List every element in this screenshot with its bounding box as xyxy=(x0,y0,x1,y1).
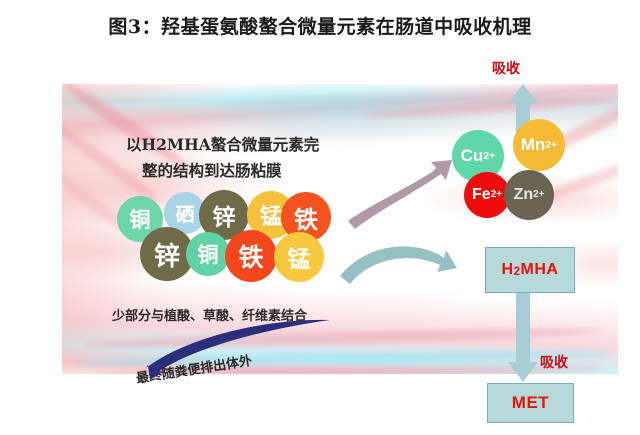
element-bubble-label: 锌 xyxy=(213,198,236,232)
element-bubble: 铜 xyxy=(186,232,230,276)
element-bubble-label: 锰 xyxy=(260,199,282,231)
ion-bubble-label: Mn xyxy=(521,135,546,155)
element-bubble: 铁 xyxy=(225,230,277,282)
element-bubble-label: 铜 xyxy=(130,204,151,234)
headline-line-2: 整的结构到达肠粘膜 xyxy=(142,158,282,183)
ion-bubble-label: Fe xyxy=(472,186,491,204)
h2mha-box-suffix: MHA xyxy=(521,261,559,279)
element-bubble-label: 硒 xyxy=(175,200,194,227)
headline-line-1: 以H2MHA螯合微量元素完 xyxy=(126,132,319,157)
element-bubble-label: 铁 xyxy=(294,200,318,235)
ion-bubble-label: Cu xyxy=(461,146,484,166)
h2mha-box: H2MHA xyxy=(485,247,575,293)
page-title: 图3：羟基蛋氨酸螯合微量元素在肠道中吸收机理 xyxy=(0,12,640,39)
element-bubble-label: 锌 xyxy=(154,236,180,273)
met-box-label: MET xyxy=(512,393,549,413)
note-binding-text: 少部分与植酸、草酸、纤维素结合 xyxy=(112,305,307,324)
element-bubble-label: 铜 xyxy=(198,239,219,269)
figure-canvas: 图3：羟基蛋氨酸螯合微量元素在肠道中吸收机理 以H2MHA螯合微量元素完 整的结… xyxy=(0,0,640,435)
ion-bubble-mn: Mn2+ xyxy=(513,119,565,171)
ion-bubble-label: Zn xyxy=(514,186,534,204)
h2mha-box-label: H xyxy=(502,261,514,279)
element-bubble-label: 铁 xyxy=(238,238,263,274)
ion-bubble-zn: Zn2+ xyxy=(504,170,554,220)
met-box: MET xyxy=(487,383,574,423)
absorption-label: 吸收 xyxy=(540,352,568,372)
element-bubble-label: 锰 xyxy=(288,240,311,274)
absorption-label: 吸收 xyxy=(492,58,520,78)
element-bubble: 锰 xyxy=(274,232,324,282)
